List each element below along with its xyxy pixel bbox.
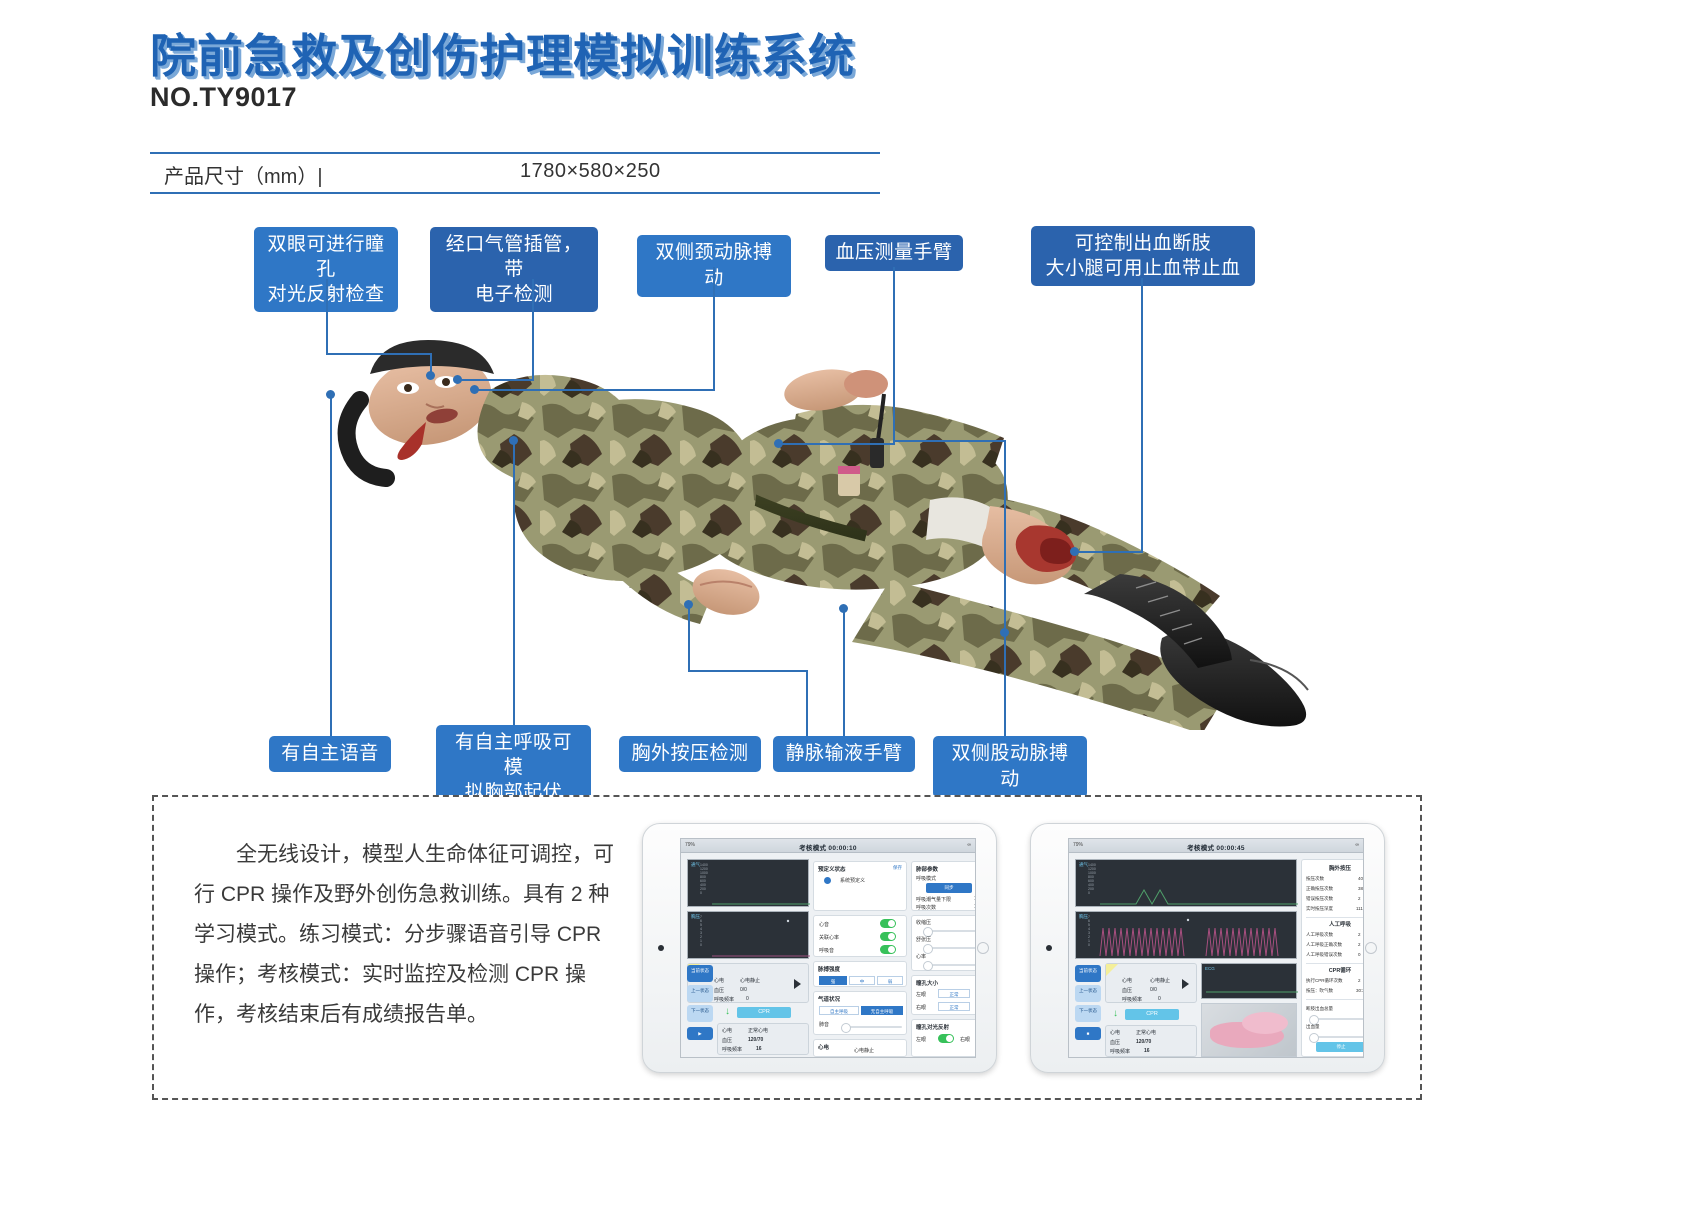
chest-trace [688, 912, 810, 960]
leader-femoral-h [893, 440, 1006, 442]
spec-rule-top [150, 152, 880, 154]
ecg-card-value: 心电静止 [854, 1047, 874, 1054]
tablet-assessment-cpr[interactable]: 79% 考核模式 00:00:45 ∞ 通气 1400 1200 1000 80… [1030, 823, 1385, 1073]
limb-bleeding-total-label: 断肢出血总量 [1306, 1006, 1333, 1012]
heart-rate-label: 心率 [916, 953, 926, 960]
pulse-strength-title: 脉搏强度 [818, 965, 840, 973]
target-ecg-value: 正常心电 [748, 1027, 768, 1034]
ventilation-trace [688, 860, 810, 908]
button2-current-state[interactable]: 当前状态 [1075, 965, 1101, 982]
predefined-state-card[interactable]: 预定义状态 保存 系统预定义 [813, 861, 907, 911]
sounds-card[interactable]: 心音 关联心率 呼吸音 [813, 915, 907, 957]
systolic-slider[interactable] [926, 930, 976, 932]
callout-chest-compression[interactable]: 胸外按压检测 [619, 736, 761, 772]
divider-2 [1306, 963, 1364, 964]
leader-chest-v1 [688, 604, 690, 670]
anchor-dot-bleed [1070, 547, 1079, 556]
anchor-dot-chest [684, 600, 693, 609]
stop-assessment-button[interactable]: 停止 [1316, 1042, 1364, 1052]
vitals-rr-value: 0 [746, 996, 749, 1002]
leader-bp-h [779, 443, 895, 445]
tablet2-status-bar: 79% 考核模式 00:00:45 ∞ [1069, 839, 1363, 853]
target2-vitals-panel: 心电 正常心电 血压 120/70 呼吸频率 16 [1105, 1025, 1197, 1057]
button2-prev-state[interactable]: 上一状态 [1075, 985, 1101, 1002]
anchor-dot-carotid [470, 385, 479, 394]
vitals2-bp-label: 血压 [1122, 987, 1132, 994]
anchor-dot-femoral [1000, 628, 1009, 637]
target2-bp-value: 120/70 [1136, 1039, 1151, 1045]
compression-depth-value: 111 [1356, 906, 1363, 911]
leader-iv-v [843, 608, 845, 736]
breath-count2-value: 2 [1358, 932, 1361, 937]
divider-1 [1306, 917, 1364, 918]
breath-wrong-value: 0 [1358, 952, 1361, 957]
target-bp-label: 血压 [722, 1037, 732, 1044]
button-next-state[interactable]: 下一状态 [687, 1005, 713, 1022]
callout-spontaneous-voice[interactable]: 有自主语音 [269, 736, 391, 772]
correct-compression-label: 正确按压次数 [1306, 886, 1333, 892]
left-reflex-label: 左眼 [916, 1036, 926, 1043]
target2-ecg-label: 心电 [1110, 1029, 1120, 1036]
leader-femoral-v [1004, 440, 1006, 736]
rescue-breath-section-title: 人工呼吸 [1302, 920, 1364, 928]
leader-intubation-h [458, 379, 534, 381]
play2-icon[interactable] [1182, 979, 1189, 989]
callout-oral-intubation[interactable]: 经口气管插管，带 电子检测 [430, 227, 598, 312]
spec-bar: 产品尺寸（mm）| 1780×580×250 [150, 152, 880, 194]
breath-sound-toggle[interactable] [880, 945, 896, 954]
wifi-icon: ∞ [967, 842, 971, 848]
breath-count-value: 10 [974, 904, 976, 910]
left-pupil-label: 左眼 [916, 991, 926, 998]
cpr-arrow-icon: ↓ [725, 1006, 730, 1017]
right-pupil-label: 右眼 [916, 1004, 926, 1011]
breath-correct-label: 人工呼吸正确次数 [1306, 942, 1342, 948]
limb-photo-thumbnail [1201, 1003, 1297, 1057]
state2-corner-marker [1106, 964, 1118, 976]
tablet-camera-icon [658, 945, 664, 951]
anchor-dot-breath [509, 436, 518, 445]
target-rr-label: 呼吸频率 [722, 1046, 742, 1053]
leader-pupil-h [326, 353, 430, 355]
anchor-dot-intubation [453, 375, 462, 384]
bleeding-volume-slider[interactable] [1312, 1036, 1364, 1038]
tidal-volume-value: 100 [974, 896, 976, 902]
spec-rule-bottom [150, 192, 880, 194]
callout-bp-arm[interactable]: 血压测量手臂 [825, 235, 963, 271]
target-vitals-panel: 心电 正常心电 血压 120/70 呼吸频率 16 [717, 1023, 809, 1055]
lung-parameters-title: 肺部参数 [916, 865, 938, 873]
breath-correct-value: 2 [1358, 942, 1361, 947]
leader-bleed-v [1141, 278, 1143, 551]
compression-count-value: 40 [1358, 876, 1363, 881]
vitals-bp-value: 0/0 [740, 987, 747, 993]
tablet-home-button[interactable] [977, 942, 989, 954]
compression-ventilation-ratio-label: 按压：吹气数 [1306, 988, 1333, 994]
systolic-label: 收缩压 [916, 919, 931, 926]
cpr-report-panel[interactable]: 胸外按压 按压次数 40 次 正确按压次数 38 次 错误按压次数 2 次 实时… [1301, 859, 1364, 1057]
spec-value: 1780×580×250 [520, 160, 661, 183]
tablet2-camera-icon [1046, 945, 1052, 951]
breath-count2-label: 人工呼吸次数 [1306, 932, 1333, 938]
predefined-state-save-link[interactable]: 保存 [893, 865, 902, 871]
tablet-status-bar: 79% 考核模式 00:00:10 ∞ [681, 839, 975, 853]
breath-wrong-label: 人工呼吸错误次数 [1306, 952, 1342, 958]
lung-sound-slider[interactable] [844, 1026, 902, 1028]
lung-sound-label: 肺音 [819, 1021, 829, 1028]
breath-count-label: 呼吸次数 [916, 904, 936, 911]
vitals2-ecg-label: 心电 [1122, 977, 1132, 984]
product-description: 全无线设计，模型人生命体征可调控，可行 CPR 操作及野外创伤急救训练。具有 2… [194, 835, 624, 1035]
callout-bleeding-limb[interactable]: 可控制出血断肢 大小腿可用止血带止血 [1031, 226, 1255, 286]
right-reflex-label: 右眼 [960, 1036, 970, 1043]
vitals-bp-label: 血压 [714, 987, 724, 994]
chest-pressure-waveform: 胸压 7 6 5 4 3 2 1 0 [687, 911, 809, 959]
target-ecg-label: 心电 [722, 1027, 732, 1034]
ecg-mini-panel: ECG [1201, 963, 1297, 999]
vitals2-bp-value: 0/0 [1150, 987, 1157, 993]
correct-compression-value: 38 [1358, 886, 1363, 891]
compression-depth-label: 实时按压深度 [1306, 906, 1333, 912]
leader-intubation-v [532, 279, 534, 379]
cpr-cycle-count-value: 2 [1358, 978, 1361, 983]
airway-status-title: 气道状况 [818, 995, 840, 1003]
tablet-assessment-start[interactable]: 79% 考核模式 00:00:10 ∞ 通气 1400 1200 1000 80… [642, 823, 997, 1073]
radio-selected-icon[interactable] [824, 877, 831, 884]
spec-label: 产品尺寸（mm）| [164, 160, 323, 189]
brochure-page: 院前急救及创伤护理模拟训练系统 NO.TY9017 产品尺寸（mm）| 1780… [0, 0, 1700, 1209]
left-reflex-toggle[interactable] [938, 1034, 954, 1043]
divider-3 [1306, 999, 1364, 1000]
target2-rr-value: 16 [1144, 1048, 1150, 1054]
assessment-mode-timer: 考核模式 00:00:10 [681, 842, 975, 852]
link-hr-label: 关联心率 [819, 934, 839, 941]
button-play-state[interactable]: ▶ [687, 1027, 713, 1040]
compression-ventilation-ratio-value: 30:2 [1356, 988, 1364, 993]
anchor-dot-pupil [426, 371, 435, 380]
right-pupil-value[interactable]: 正常 [938, 1002, 970, 1011]
leader-carotid-h [475, 389, 715, 391]
target-bp-value: 120/70 [748, 1037, 763, 1043]
button2-stop-state[interactable]: ■ [1075, 1027, 1101, 1040]
predefined-state-title: 预定义状态 [818, 865, 846, 873]
leader-bleed-h [1075, 551, 1143, 553]
hemodynamics-card[interactable]: 收缩压 舒张压 心率 [911, 915, 976, 971]
link-hr-toggle[interactable] [880, 932, 896, 941]
cpr-cycle-count-label: 执行CPR循环次数 [1306, 978, 1343, 984]
chest2-trace [1076, 912, 1298, 960]
model-number: NO.TY9017 [150, 82, 297, 113]
lung-parameters-card[interactable]: 肺部参数 呼吸模式 同步 呼吸潮气量下限 100 呼吸次数 10 [911, 861, 976, 911]
leader-bp-v [893, 267, 895, 443]
limb-bleeding-total-slider[interactable] [1312, 1018, 1364, 1020]
heart-sound-toggle[interactable] [880, 919, 896, 928]
wrong-compression-value: 2 [1358, 896, 1361, 901]
vitals2-ecg-value: 心电静止 [1150, 977, 1170, 984]
diastolic-label: 舒张压 [916, 936, 931, 943]
wifi2-icon: ∞ [1355, 842, 1359, 848]
assessment2-mode-timer: 考核模式 00:00:45 [1069, 842, 1363, 852]
anchor-dot-bp [774, 439, 783, 448]
target2-rr-label: 呼吸频率 [1110, 1048, 1130, 1055]
target2-ecg-value: 正常心电 [1136, 1029, 1156, 1036]
leader-pupil-v1 [326, 279, 328, 353]
tablet-screen[interactable]: 79% 考核模式 00:00:10 ∞ 通气 1400 1200 1000 80… [680, 838, 976, 1058]
pulse-medium-button[interactable]: 中 [849, 976, 875, 985]
current2-vitals-panel: 心电 心电静止 血压 0/0 呼吸频率 0 [1105, 963, 1197, 1003]
page-title: 院前急救及创伤护理模拟训练系统 [150, 20, 855, 86]
breath-mode-value[interactable]: 同步 [926, 883, 972, 893]
bleeding-volume-label: 出血量 [1306, 1024, 1320, 1030]
anchor-dot-voice [326, 390, 335, 399]
cpr2-arrow-icon: ↓ [1113, 1008, 1118, 1019]
target2-bp-label: 血压 [1110, 1039, 1120, 1046]
callout-femoral-pulse[interactable]: 双侧股动脉搏动 [933, 736, 1087, 798]
no-spontaneous-breath-button[interactable]: 无自主呼吸 [861, 1006, 903, 1015]
ecg-card[interactable]: 心电 心电静止 [813, 1039, 907, 1057]
bottom-panel: 全无线设计，模型人生命体征可调控，可行 CPR 操作及野外创伤急救训练。具有 2… [152, 795, 1422, 1100]
ecg-mini-trace [1202, 964, 1298, 1000]
breath-mode-label: 呼吸模式 [916, 875, 936, 882]
ventilation2-waveform: 通气 1400 1200 1000 800 600 400 200 0 [1075, 859, 1297, 907]
leader-chest-v2 [806, 670, 808, 736]
chest-compression-section-title: 胸外按压 [1302, 864, 1364, 872]
anchor-dot-iv [839, 604, 848, 613]
wrong-compression-label: 错误按压次数 [1306, 896, 1333, 902]
pupil-size-card[interactable]: 瞳孔大小 左眼 正常 右眼 正常 [911, 975, 976, 1015]
target-rr-value: 16 [756, 1046, 762, 1052]
spontaneous-breath-button[interactable]: 自主呼吸 [819, 1006, 859, 1015]
tablet2-home-button[interactable] [1365, 942, 1377, 954]
heart-rate-slider[interactable] [926, 964, 976, 966]
leader-carotid-v [713, 267, 715, 389]
leader-breath-v [513, 440, 515, 725]
diastolic-slider[interactable] [926, 947, 976, 949]
pulse-strength-card[interactable]: 脉搏强度 强 中 弱 [813, 961, 907, 987]
vitals-ecg-label: 心电 [714, 977, 724, 984]
ecg-card-title: 心电 [818, 1043, 829, 1051]
vitals-rr-label: 呼吸频率 [714, 996, 734, 1003]
vitals2-rr-value: 0 [1158, 996, 1161, 1002]
breath-sound-label: 呼吸音 [819, 947, 834, 954]
button-prev-state[interactable]: 上一状态 [687, 985, 713, 1002]
button2-next-state[interactable]: 下一状态 [1075, 1005, 1101, 1022]
vitals-ecg-value: 心电静止 [740, 977, 760, 984]
vitals2-rr-label: 呼吸频率 [1122, 996, 1142, 1003]
button-current-state[interactable]: 当前状态 [687, 965, 713, 982]
ventilation-waveform: 通气 1400 1200 1000 800 600 400 200 0 [687, 859, 809, 907]
pupil-reflex-card[interactable]: 瞳孔对光反射 左眼 右眼 [911, 1019, 976, 1057]
play-icon[interactable] [794, 979, 801, 989]
cpr-button[interactable]: CPR [737, 1007, 791, 1018]
airway-status-card[interactable]: 气道状况 自主呼吸 无自主呼吸 肺音 [813, 991, 907, 1035]
left-pupil-value[interactable]: 正常 [938, 989, 970, 998]
tablet2-screen[interactable]: 79% 考核模式 00:00:45 ∞ 通气 1400 1200 1000 80… [1068, 838, 1364, 1058]
chest-pressure2-waveform: 胸压 7 6 5 4 3 2 1 0 [1075, 911, 1297, 959]
pupil-reflex-title: 瞳孔对光反射 [916, 1023, 949, 1031]
ventilation2-trace [1076, 860, 1298, 908]
compression-count-label: 按压次数 [1306, 876, 1324, 882]
tidal-volume-label: 呼吸潮气量下限 [916, 896, 951, 903]
leader-chest-h [688, 670, 808, 672]
pulse-weak-button[interactable]: 弱 [877, 976, 903, 985]
pulse-strong-button[interactable]: 强 [819, 976, 847, 985]
cpr2-button[interactable]: CPR [1125, 1009, 1179, 1020]
cpr-cycle-section-title: CPR循环 [1302, 966, 1364, 974]
heart-sound-label: 心音 [819, 921, 829, 928]
callout-iv-infusion-arm[interactable]: 静脉输液手臂 [773, 736, 915, 772]
predefined-state-option: 系统预定义 [840, 877, 865, 884]
pupil-size-title: 瞳孔大小 [916, 979, 938, 987]
leader-voice-v [330, 394, 332, 736]
